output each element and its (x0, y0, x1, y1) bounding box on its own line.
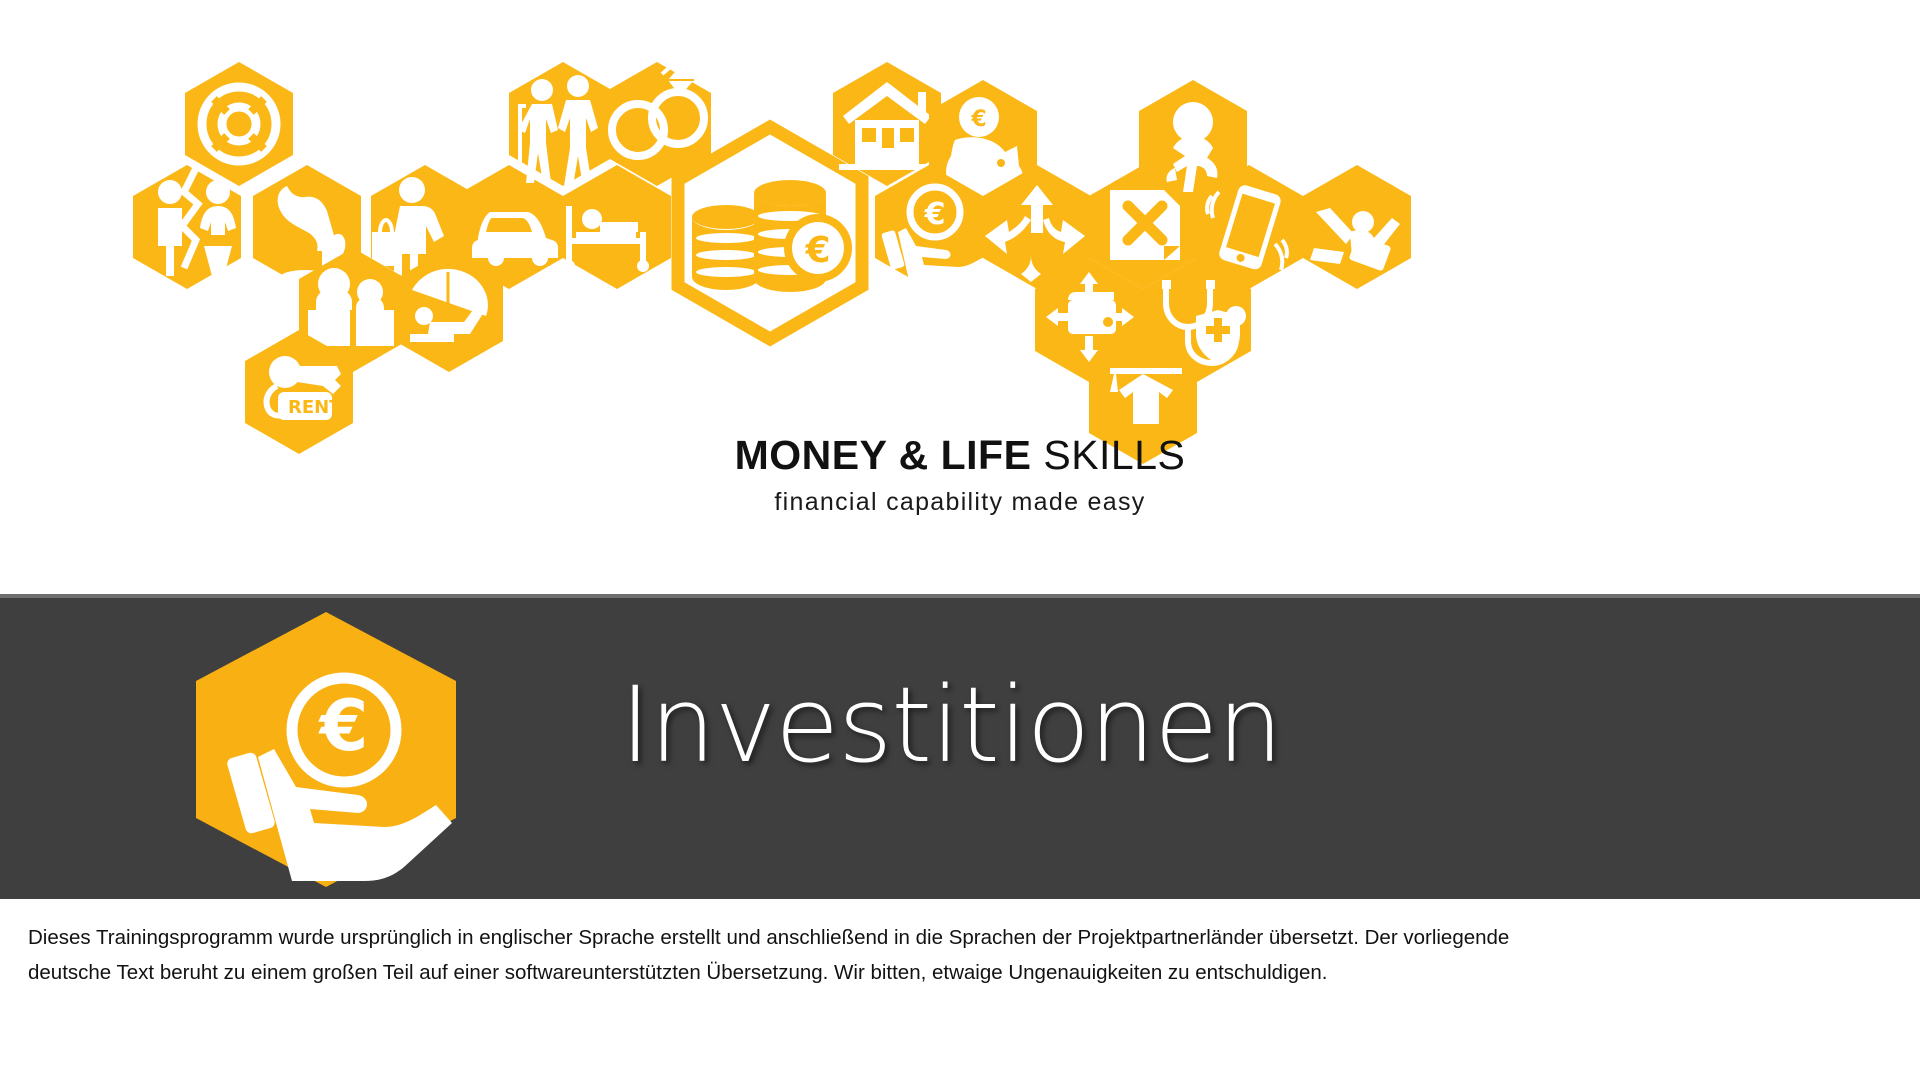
page-title: Investitionen (620, 660, 1880, 790)
band-top-divider (0, 594, 1920, 598)
hand-holding-euro-coin-icon: € (196, 612, 456, 887)
svg-text:RENT: RENT (288, 397, 342, 418)
footer: Erasmus+ Die Unterstützung der Europäisc… (0, 1000, 1920, 1080)
house-icon (833, 62, 941, 186)
translation-notice-line1: Dieses Trainingsprogramm wurde ursprüngl… (28, 920, 1898, 955)
svg-text:€: € (318, 685, 369, 767)
svg-text:€: € (970, 107, 986, 132)
brand-banner: RENT € (0, 0, 1920, 594)
wordmark-light: SKILLS (1043, 432, 1185, 478)
brand-tagline: financial capability made easy (690, 488, 1230, 517)
svg-text:€: € (804, 230, 830, 271)
falling-person-accident-icon (1303, 165, 1411, 289)
lifebuoy-icon (185, 62, 293, 186)
translation-notice-line2: deutsche Text beruht zu einem großen Tei… (28, 955, 1898, 990)
slide-root: DE (0, 0, 1920, 1080)
brand-wordmark: MONEY & LIFE SKILLS financial capability… (690, 432, 1230, 517)
svg-text:€: € (924, 197, 946, 232)
translation-notice: Dieses Trainingsprogramm wurde ursprüngl… (28, 920, 1898, 990)
elderly-couple-icon (509, 62, 617, 186)
wordmark-bold: MONEY & LIFE (735, 432, 1032, 478)
wordmark-line: MONEY & LIFE SKILLS (690, 432, 1230, 478)
coins-stack-euro-icon: € (678, 127, 862, 339)
divorce-separation-icon (133, 165, 241, 289)
